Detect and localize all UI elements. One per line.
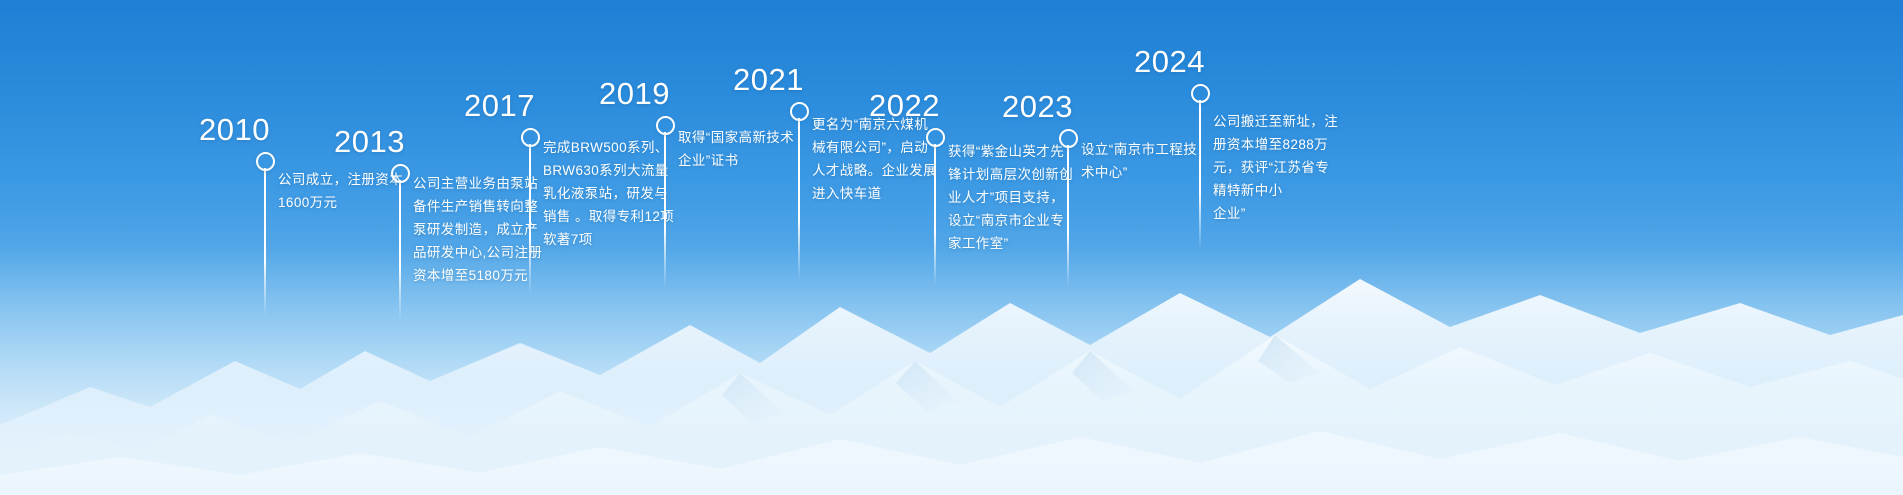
milestone-description: 取得“国家高新技术 企业”证书 [678,126,806,172]
milestone-stem-line [264,168,266,316]
milestone-stem-line [529,144,531,294]
milestone-stem-line [1067,145,1069,287]
milestone-node-circle-icon[interactable] [391,164,410,183]
milestone-year-label: 2023 [1002,89,1073,125]
milestone-stem-line [934,144,936,286]
milestone-stem-line [798,118,800,280]
milestone-year-label: 2013 [334,124,405,160]
milestone-year-label: 2019 [599,76,670,112]
milestone-year-label: 2024 [1134,44,1205,80]
milestone-year-label: 2022 [869,88,940,124]
timeline-track: 2010公司成立，注册资本 1600万元2013公司主营业务由泵站 备件生产销售… [0,0,1903,495]
milestone-description: 公司主营业务由泵站 备件生产销售转向整 泵研发制造，成立产 品研发中心,公司注册… [413,172,545,287]
milestone-description: 更名为“南京六煤机 械有限公司”，启动 人才战略。企业发展 进入快车道 [812,113,940,205]
milestone-node-circle-icon[interactable] [256,152,275,171]
milestone-description: 公司搬迁至新址，注 册资本增至8288万 元，获评“江苏省专 精特新中小 企业” [1213,110,1345,225]
milestone-node-circle-icon[interactable] [1191,84,1210,103]
milestone-year-label: 2017 [464,88,535,124]
milestone-stem-line [399,180,401,320]
milestone-description: 完成BRW500系列、 BRW630系列大流量 乳化液泵站，研发与 销售 。取得… [543,136,679,251]
milestone-description: 设立“南京市工程技 术中心” [1081,138,1209,184]
milestone-node-circle-icon[interactable] [926,128,945,147]
milestone-stem-line [1199,100,1201,250]
milestone-year-label: 2010 [199,112,270,148]
milestone-year-label: 2021 [733,62,804,98]
milestone-node-circle-icon[interactable] [656,116,675,135]
milestone-stem-line [664,132,666,288]
milestone-node-circle-icon[interactable] [790,102,809,121]
milestone-node-circle-icon[interactable] [1059,129,1078,148]
milestone-description: 获得“紫金山英才先 锋计划高层次创新创 业人才”项目支持， 设立“南京市企业专 … [948,140,1076,255]
milestone-node-circle-icon[interactable] [521,128,540,147]
timeline-infographic: 2010公司成立，注册资本 1600万元2013公司主营业务由泵站 备件生产销售… [0,0,1903,495]
